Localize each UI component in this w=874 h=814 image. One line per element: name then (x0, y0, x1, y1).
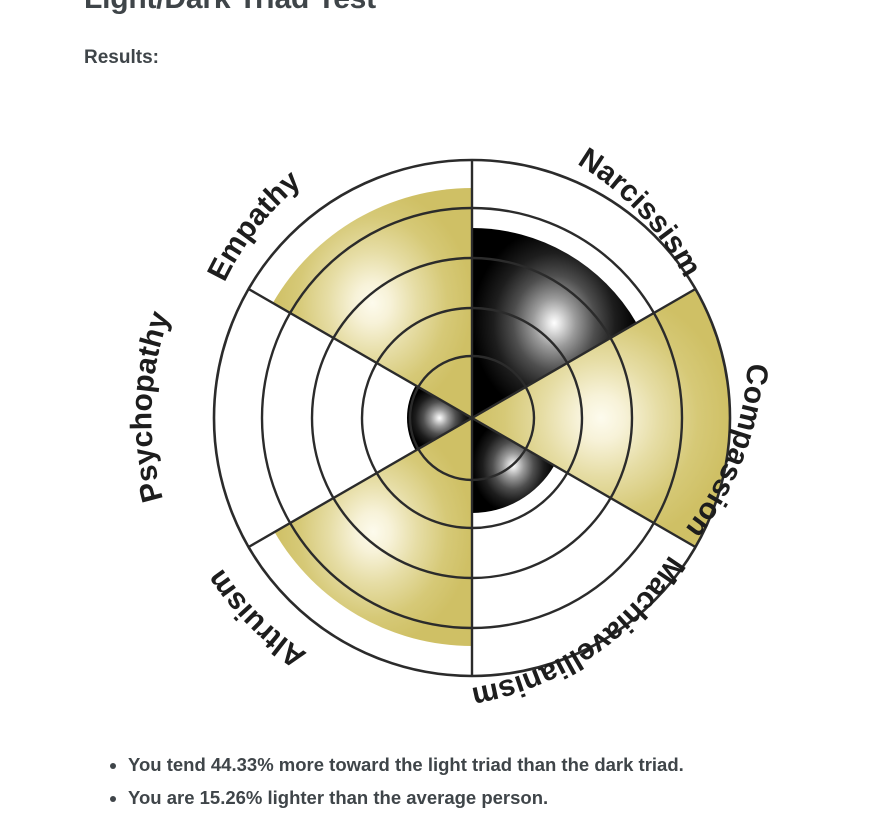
radar-chart-svg: Empathy Narcissism Compassion Machiavell… (0, 95, 874, 745)
triad-radar-chart: Empathy Narcissism Compassion Machiavell… (0, 95, 874, 745)
list-item: You are 15.26% lighter than the average … (128, 781, 874, 814)
label-altruism: Altruism (200, 564, 311, 675)
findings-list: You tend 44.33% more toward the light tr… (84, 748, 874, 814)
label-empathy: Empathy (201, 164, 306, 286)
label-narcissism: Narcissism (573, 142, 708, 283)
sector-altruism (275, 418, 473, 646)
list-item: You tend 44.33% more toward the light tr… (128, 748, 874, 781)
results-page: Light/Dark Triad Test Results: (0, 0, 874, 800)
page-title: Light/Dark Triad Test (84, 0, 376, 16)
results-heading: Results: (84, 47, 159, 69)
label-psychopathy: Psychopathy (125, 307, 176, 506)
